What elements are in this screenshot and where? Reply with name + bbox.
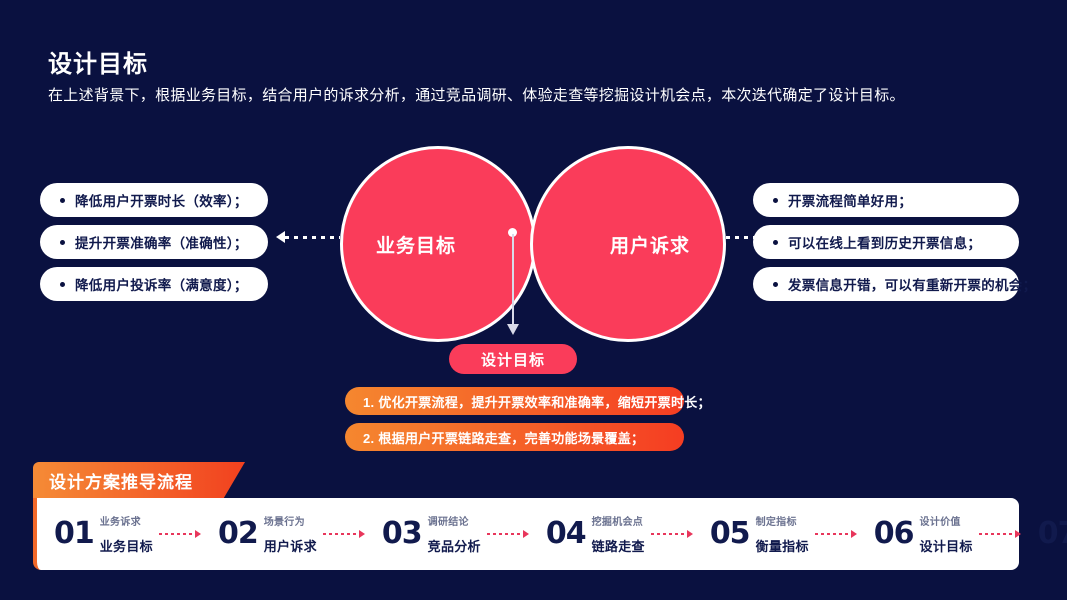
flow-step-01-top-label: 业务诉求 [100, 513, 153, 528]
flow-step-04-top-label: 挖掘机会点 [592, 513, 645, 528]
flow-step-01-number: 01 [54, 519, 94, 549]
flow-step-04-bottom-label: 链路走查 [592, 536, 645, 555]
flow-step-01: 01 业务诉求 业务目标 [54, 513, 153, 555]
venn-left-label: 业务目标 [376, 231, 456, 258]
bullet-dot-icon [60, 240, 65, 245]
right-bullet-3: 发票信息开错，可以有重新开票的机会； [753, 267, 1019, 301]
flow-step-04: 04 挖掘机会点 链路走查 [546, 513, 645, 555]
connector-head [851, 530, 857, 538]
venn-right-label: 用户诉求 [610, 231, 690, 258]
connector-head [195, 530, 201, 538]
flow-step-05: 05 制定指标 衡量指标 [710, 513, 809, 555]
connector-line [979, 533, 1015, 535]
goal-item-2: 2. 根据用户开票链路走查，完善功能场景覆盖； [345, 423, 684, 451]
arrow-head-down [507, 324, 519, 335]
left-bullet-1: 降低用户开票时长（效率）； [40, 183, 268, 217]
arrow-shaft [512, 234, 514, 326]
left-bullet-1-label: 降低用户开票时长（效率）； [75, 190, 248, 210]
flow-step-04-number: 04 [546, 519, 586, 549]
bullet-dot-icon [60, 198, 65, 203]
connector-line [815, 533, 851, 535]
flow-step-02-top-label: 场景行为 [264, 513, 317, 528]
flow-step-06-bottom-label: 设计目标 [920, 536, 973, 555]
flow-step-03: 03 调研结论 竞品分析 [382, 513, 481, 555]
right-bullet-2-label: 可以在线上看到历史开票信息； [788, 232, 981, 252]
flow-section-tab-label: 设计方案推导流程 [49, 468, 193, 493]
bullet-dot-icon [60, 282, 65, 287]
flow-step-02-bottom-label: 用户诉求 [264, 536, 317, 555]
connector-line [159, 533, 195, 535]
flow-step-02: 02 场景行为 用户诉求 [218, 513, 317, 555]
goal-item-2-label: 2. 根据用户开票链路走查，完善功能场景覆盖； [363, 428, 644, 447]
connector-head [523, 530, 529, 538]
flow-steps-panel: 01 业务诉求 业务目标 02 场景行为 用户诉求 03 调研结论 竞品分析 0… [33, 498, 1019, 570]
page-title: 设计目标 [48, 44, 148, 79]
left-bullet-2: 提升开票准确率（准确性）； [40, 225, 268, 259]
arrow-head-right [781, 231, 790, 243]
flow-step-06-top-label: 设计价值 [920, 513, 973, 528]
right-bullet-1-label: 开票流程简单好用； [788, 190, 912, 210]
goal-item-1: 1. 优化开票流程，提升开票效率和准确率，缩短开票时长； [345, 387, 684, 415]
connector-line [651, 533, 687, 535]
flow-step-06: 06 设计价值 设计目标 [874, 513, 973, 555]
venn-diagram: 业务目标 用户诉求 [340, 146, 726, 342]
design-goal-badge: 设计目标 [449, 344, 577, 374]
flow-connector-arrow-icon [487, 531, 529, 538]
flow-step-07: 07 设计推动 设计策略 [1038, 513, 1067, 555]
flow-step-03-bottom-label: 竞品分析 [428, 536, 481, 555]
arrow-head-left [276, 231, 285, 243]
arrow-right-icon [726, 232, 790, 242]
flow-step-03-number: 03 [382, 519, 422, 549]
flow-connector-arrow-icon [323, 531, 365, 538]
connector-head [1015, 530, 1021, 538]
goal-item-1-label: 1. 优化开票流程，提升开票效率和准确率，缩短开票时长； [363, 392, 711, 411]
flow-step-06-number: 06 [874, 519, 914, 549]
arrow-down-icon [505, 228, 521, 340]
flow-connector-arrow-icon [979, 531, 1021, 538]
dotted-line [726, 236, 781, 239]
page-subtitle: 在上述背景下，根据业务目标，结合用户的诉求分析，通过竞品调研、体验走查等挖掘设计… [48, 84, 905, 105]
flow-step-05-number: 05 [710, 519, 750, 549]
dotted-line [285, 236, 340, 239]
design-goal-badge-label: 设计目标 [481, 349, 545, 370]
flow-step-03-top-label: 调研结论 [428, 513, 481, 528]
right-bullet-1: 开票流程简单好用； [753, 183, 1019, 217]
right-bullet-3-label: 发票信息开错，可以有重新开票的机会； [788, 274, 1036, 294]
connector-line [487, 533, 523, 535]
left-bullet-2-label: 提升开票准确率（准确性）； [75, 232, 248, 252]
connector-head [359, 530, 365, 538]
flow-connector-arrow-icon [815, 531, 857, 538]
connector-line [323, 533, 359, 535]
flow-step-05-top-label: 制定指标 [756, 513, 809, 528]
left-bullet-3: 降低用户投诉率（满意度）； [40, 267, 268, 301]
venn-circle-user: 用户诉求 [530, 146, 726, 342]
flow-step-07-number: 07 [1038, 519, 1067, 549]
right-bullet-2: 可以在线上看到历史开票信息； [753, 225, 1019, 259]
arrow-left-icon [276, 232, 340, 242]
flow-connector-arrow-icon [159, 531, 201, 538]
bullet-dot-icon [773, 282, 778, 287]
bullet-dot-icon [773, 198, 778, 203]
flow-section-tab: 设计方案推导流程 [33, 462, 245, 498]
flow-step-02-number: 02 [218, 519, 258, 549]
flow-step-01-bottom-label: 业务目标 [100, 536, 153, 555]
flow-connector-arrow-icon [651, 531, 693, 538]
connector-head [687, 530, 693, 538]
left-bullet-3-label: 降低用户投诉率（满意度）； [75, 274, 248, 294]
flow-step-05-bottom-label: 衡量指标 [756, 536, 809, 555]
